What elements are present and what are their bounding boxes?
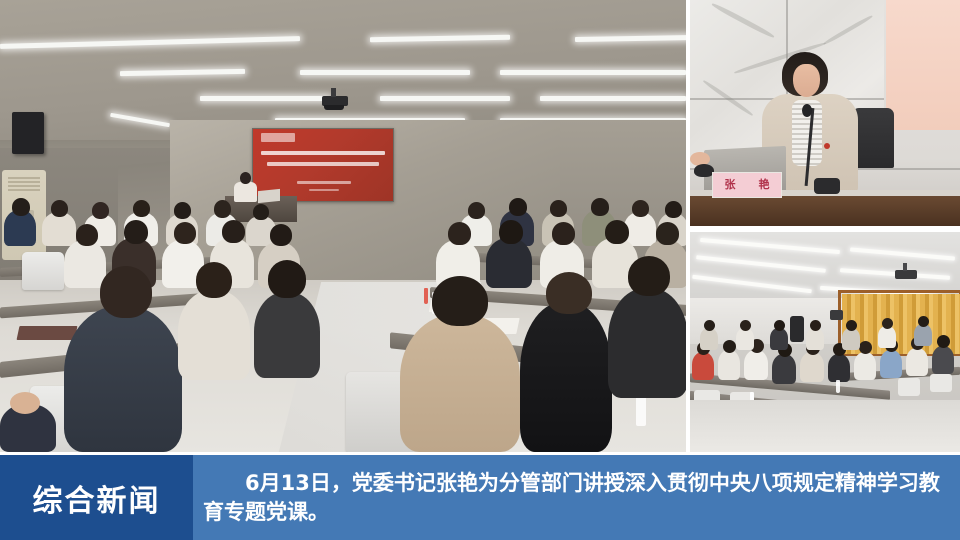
water-bottle xyxy=(836,380,840,393)
slide-title-line xyxy=(261,151,385,155)
floor xyxy=(690,400,960,452)
photo-divider-horizontal xyxy=(690,226,960,232)
news-photo-collage: 张 艳 xyxy=(0,0,960,540)
attendee-head xyxy=(918,316,929,327)
attendee-head xyxy=(723,340,736,353)
nameplate-surname: 张 xyxy=(725,180,736,191)
attendee-head xyxy=(92,202,109,219)
office-chair-back xyxy=(852,108,894,168)
news-category-label: 综合新闻 xyxy=(0,455,193,540)
attendee-head xyxy=(222,220,245,243)
wall-speaker xyxy=(790,316,804,342)
attendee-head xyxy=(253,204,269,220)
presenter-body xyxy=(234,182,257,202)
attendee xyxy=(880,350,902,378)
chair xyxy=(930,374,952,392)
caption-bar: 综合新闻 6月13日，党委书记张艳为分管部门讲授深入贯彻中央八项规定精神学习教育… xyxy=(0,455,960,540)
attendee-head xyxy=(774,320,785,331)
attendee-head xyxy=(432,276,488,326)
attendee xyxy=(878,326,896,348)
attendee-head xyxy=(124,220,148,244)
slide-subtitle-line xyxy=(267,162,379,166)
attendee-head xyxy=(448,222,471,245)
attendee xyxy=(692,352,714,380)
slide-presenter-line xyxy=(297,181,351,184)
slide-logo xyxy=(261,133,295,142)
attendee-head xyxy=(810,320,821,331)
attendee-head xyxy=(174,222,196,244)
attendee xyxy=(854,352,876,380)
caption-paragraph: 6月13日，党委书记张艳为分管部门讲授深入贯彻中央八项规定精神学习教育专题党课。 xyxy=(203,469,953,527)
wall-speaker xyxy=(830,310,843,320)
attendee xyxy=(178,290,250,380)
attendee-head xyxy=(859,341,872,354)
attendee xyxy=(906,348,928,376)
speaker-face xyxy=(793,64,820,97)
news-category-text: 综合新闻 xyxy=(33,476,161,520)
attendee xyxy=(806,328,824,350)
ceiling-projector xyxy=(895,270,917,279)
wall-speaker xyxy=(12,112,44,154)
podium-desk xyxy=(690,196,960,226)
attendee-head xyxy=(51,200,68,217)
photo-speaker-podium: 张 艳 xyxy=(690,0,960,226)
attendee-head xyxy=(605,220,629,244)
chair xyxy=(898,378,920,396)
ceiling-light-tube xyxy=(200,96,330,101)
attendee xyxy=(842,328,860,350)
notebook xyxy=(17,326,78,340)
photo-lecture-hall-main xyxy=(0,0,686,452)
attendee-head xyxy=(499,220,523,244)
attendee-head xyxy=(591,198,609,216)
attendee-foreground xyxy=(400,314,520,452)
chair xyxy=(22,252,64,290)
attendee xyxy=(744,350,768,380)
ceiling-projector xyxy=(322,96,348,106)
attendee xyxy=(770,328,788,350)
attendee xyxy=(772,354,796,384)
attendee-head xyxy=(268,260,306,298)
attendee-head xyxy=(468,202,485,219)
attendee xyxy=(486,238,532,288)
attendee-head xyxy=(882,318,893,329)
attendee-head xyxy=(509,198,527,216)
ceiling-light-tube xyxy=(300,70,470,75)
attendee-foreground xyxy=(64,306,182,452)
ceiling-light-tube xyxy=(500,70,686,75)
attendee-head xyxy=(100,266,152,318)
attendee-head xyxy=(270,224,292,246)
presenter-head xyxy=(240,172,251,184)
attendee-head xyxy=(632,200,649,217)
attendee-head xyxy=(740,320,751,331)
attendee-head xyxy=(704,320,715,331)
caption-text-block: 6月13日，党委书记张艳为分管部门讲授深入贯彻中央八项规定精神学习教育专题党课。 xyxy=(203,455,953,540)
attendee-hand xyxy=(10,392,40,414)
attendee xyxy=(42,212,76,246)
attendee-head xyxy=(196,262,232,298)
attendee-head xyxy=(12,198,30,216)
attendee xyxy=(254,292,320,378)
party-badge-pin xyxy=(824,143,830,149)
attendee xyxy=(736,328,754,350)
attendee-head xyxy=(846,320,857,331)
desk-microphone-base xyxy=(814,178,840,194)
attendee-head xyxy=(174,202,191,219)
attendee-head xyxy=(76,224,98,246)
attendee xyxy=(828,354,850,382)
attendee xyxy=(932,346,954,374)
attendee-head xyxy=(656,222,679,245)
podium-laptop xyxy=(258,189,280,203)
microphone-head xyxy=(802,104,812,117)
attendee xyxy=(608,288,686,398)
water-bottle xyxy=(424,288,428,304)
attendee-head xyxy=(552,222,575,245)
attendee-head xyxy=(214,200,231,218)
attendee xyxy=(718,350,740,380)
computer-mouse xyxy=(694,164,714,177)
attendee-head xyxy=(665,201,682,218)
attendee-head xyxy=(937,335,950,348)
attendee-foreground xyxy=(520,302,612,452)
attendee-head xyxy=(133,200,150,217)
attendee xyxy=(800,352,824,382)
wall-display-screen xyxy=(886,0,960,130)
attendee-head xyxy=(546,272,592,314)
ceiling-light-tube xyxy=(540,96,686,101)
attendee xyxy=(914,324,932,346)
nameplate-givenname: 艳 xyxy=(759,180,770,191)
attendee xyxy=(700,328,718,350)
slide-date-line xyxy=(309,189,339,191)
photo-audience-wide xyxy=(690,232,960,452)
attendee xyxy=(64,240,106,288)
nameplate: 张 艳 xyxy=(712,172,782,198)
ceiling-light-tube xyxy=(380,96,510,101)
attendee-head xyxy=(550,200,567,217)
attendee-head xyxy=(628,256,670,296)
